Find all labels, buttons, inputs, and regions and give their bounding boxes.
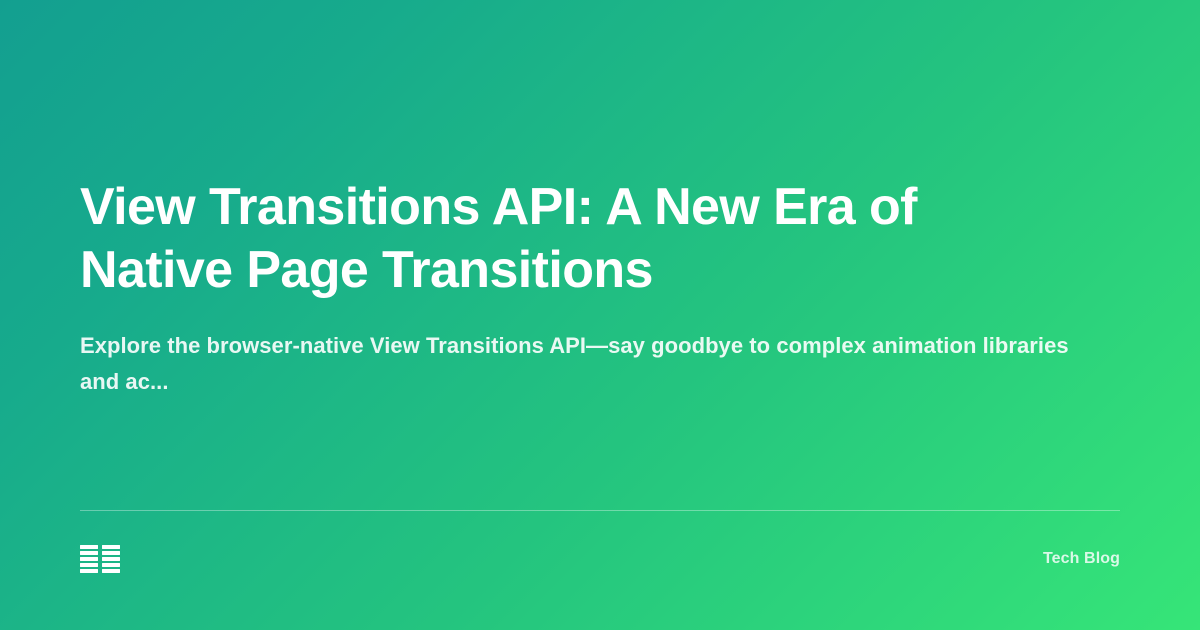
card-content: View Transitions API: A New Era of Nativ… bbox=[80, 176, 1120, 400]
logo-bar bbox=[102, 569, 120, 573]
logo-bar bbox=[80, 545, 98, 549]
logo-bar bbox=[102, 557, 120, 561]
logo-bar bbox=[80, 563, 98, 567]
page-description: Explore the browser-native View Transiti… bbox=[80, 328, 1100, 400]
logo-bar bbox=[80, 557, 98, 561]
logo-bar bbox=[80, 569, 98, 573]
logo-column-left bbox=[80, 545, 98, 573]
page-title: View Transitions API: A New Era of Nativ… bbox=[80, 176, 1080, 302]
logo-bar bbox=[80, 551, 98, 555]
logo-bar bbox=[102, 545, 120, 549]
brand-name: Tech Blog bbox=[1043, 550, 1120, 568]
logo-column-right bbox=[102, 545, 120, 573]
card-footer: Tech Blog bbox=[80, 542, 1120, 576]
logo-bar bbox=[102, 563, 120, 567]
social-share-card: View Transitions API: A New Era of Nativ… bbox=[0, 0, 1200, 630]
footer-divider bbox=[80, 510, 1120, 511]
logo-bar bbox=[102, 551, 120, 555]
stacked-bars-logo-icon bbox=[80, 545, 120, 573]
